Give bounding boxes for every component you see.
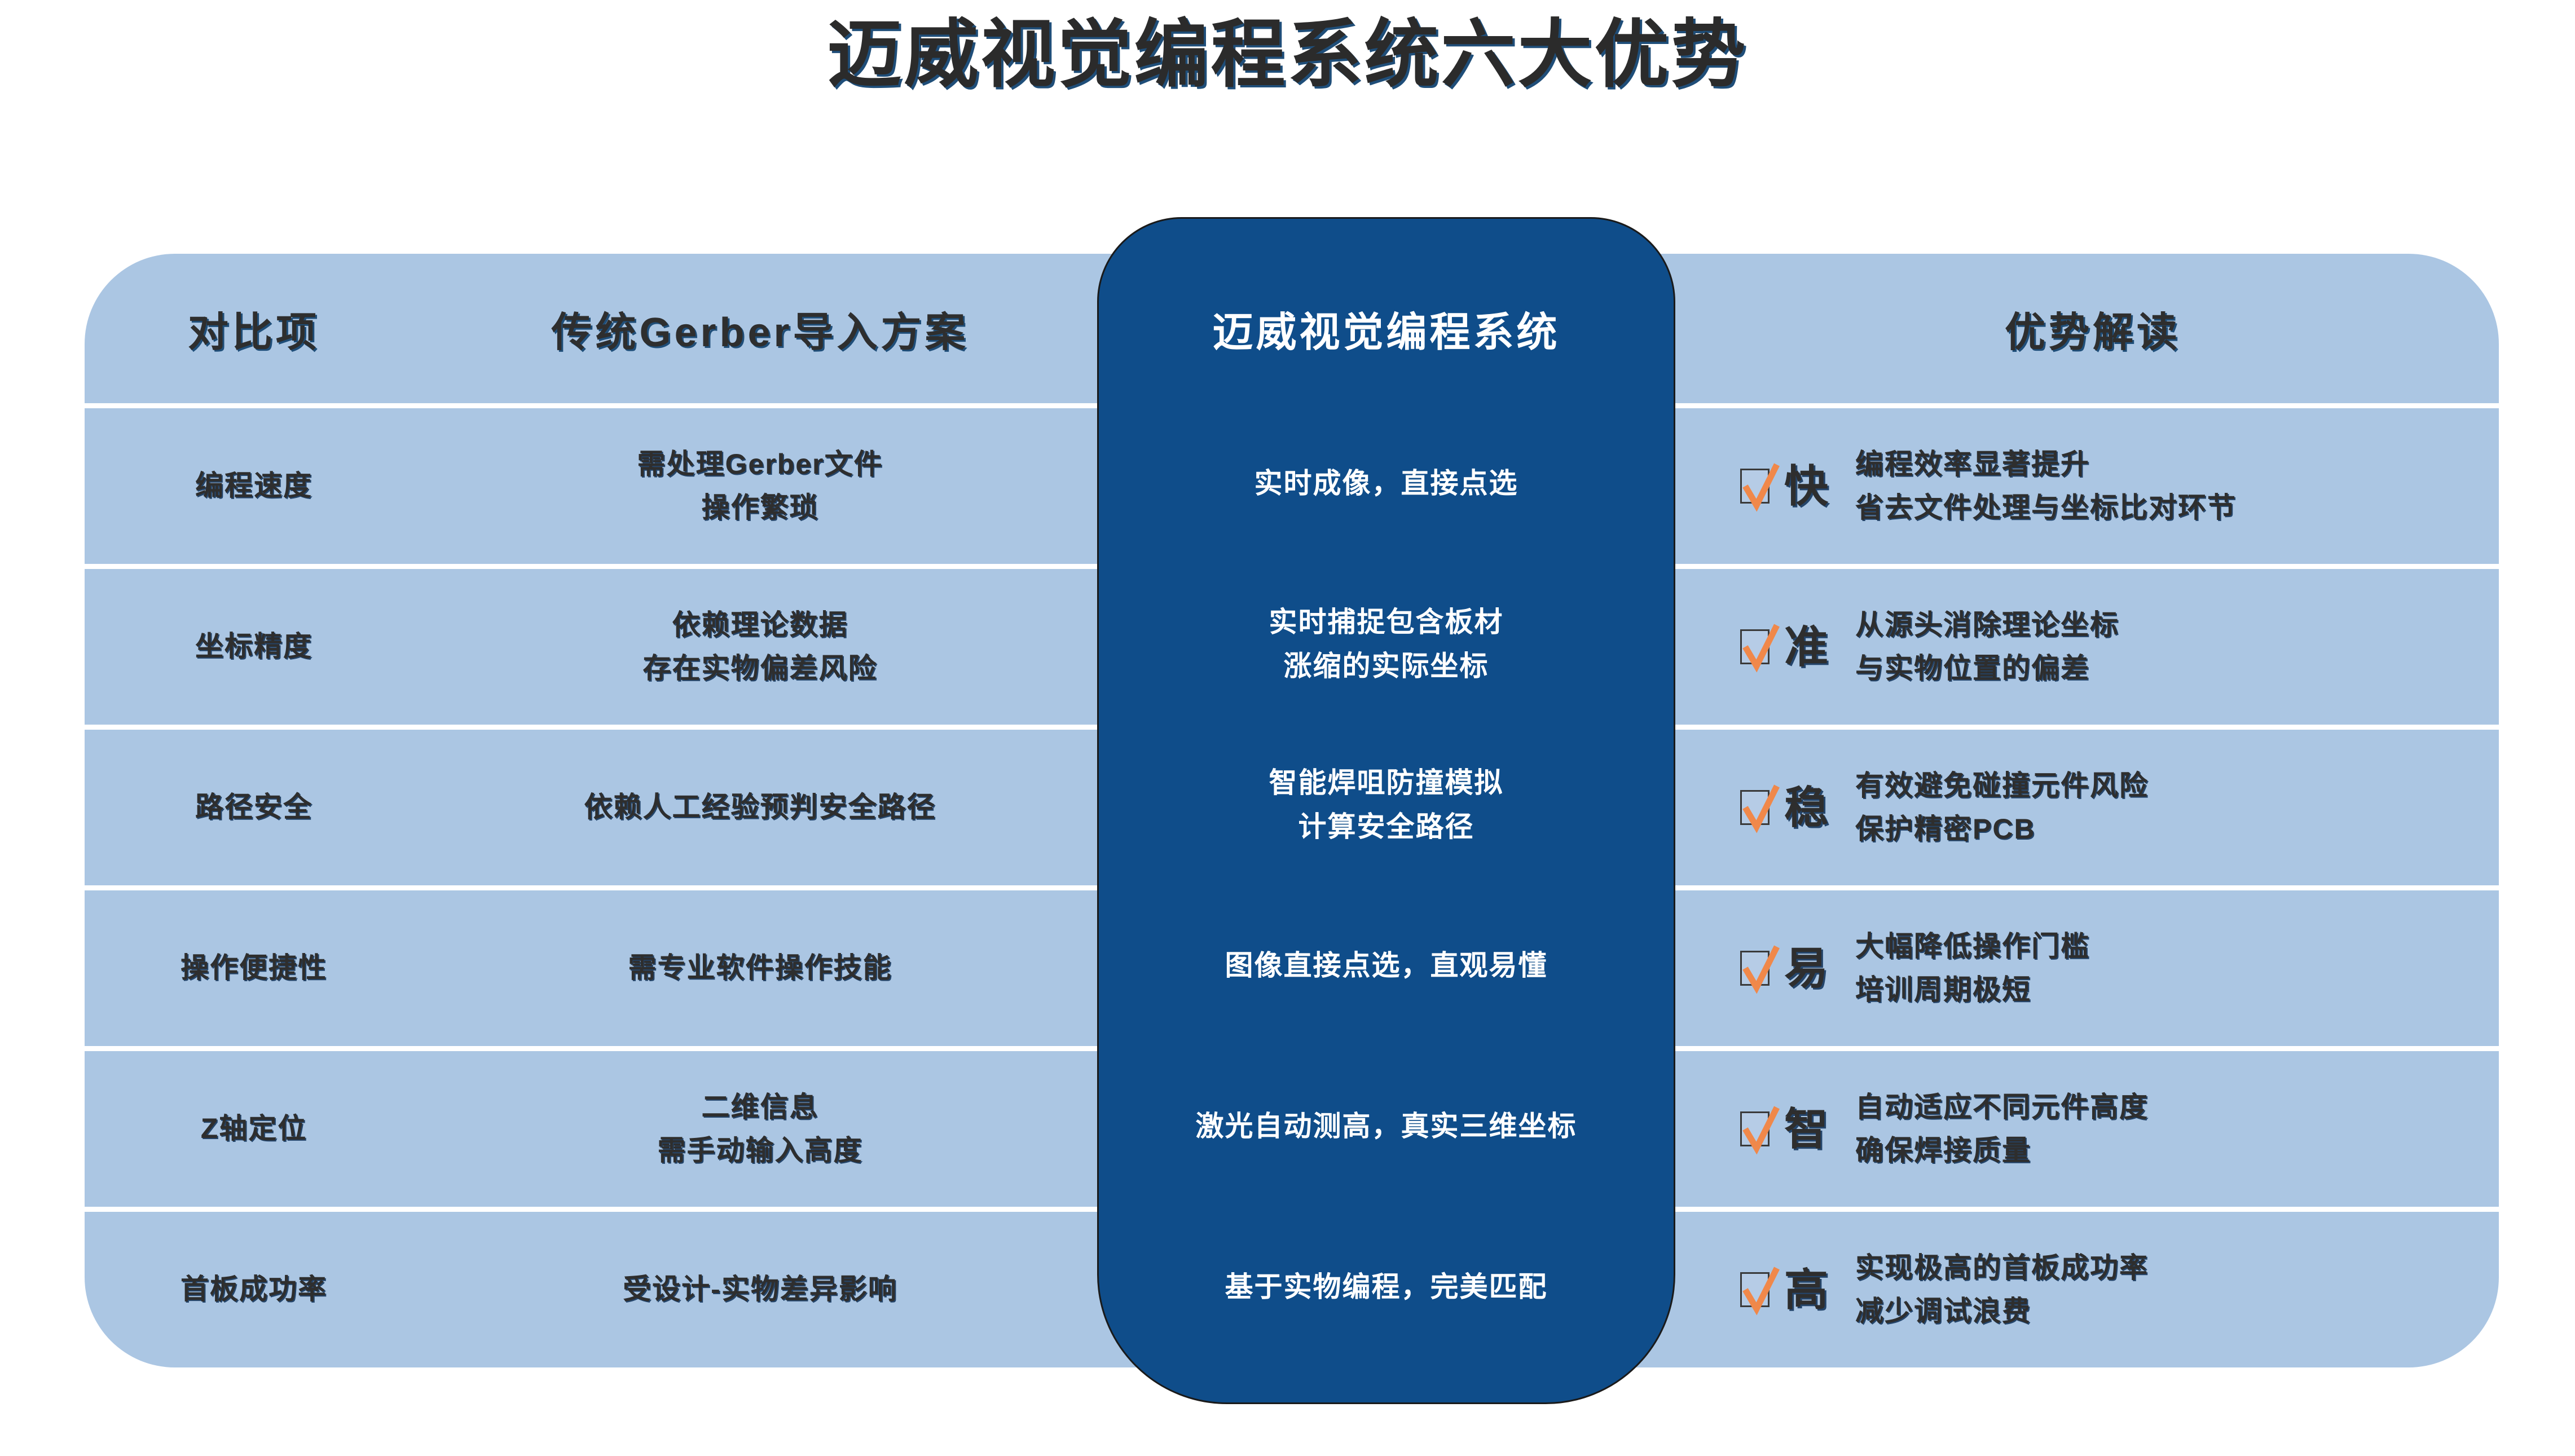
row-advantage: 易 大幅降低操作门槛 培训周期极短: [1675, 925, 2499, 1012]
advantage-line: 从源头消除理论坐标: [1855, 603, 2119, 647]
row-advantage: 智 自动适应不同元件高度 确保焊接质量: [1675, 1086, 2499, 1173]
header-label-maiwei: 迈威视觉编程系统: [1212, 299, 1560, 358]
advantage-line: 实现极高的首板成功率: [1855, 1246, 2149, 1290]
advantage-line: 有效避免碰撞元件风险: [1855, 764, 2149, 808]
advantage-line: 保护精密PCB: [1855, 808, 2149, 851]
maiwei-line: 智能焊咀防撞模拟: [1269, 761, 1504, 805]
checkbox-checked-icon: [1740, 951, 1770, 986]
row-item-label: 操作便捷性: [181, 952, 327, 983]
traditional-line: 依赖人工经验预判安全路径: [423, 786, 1097, 830]
advantage-badge: 智: [1784, 1107, 1828, 1151]
advantage-line: 大幅降低操作门槛: [1855, 925, 2090, 969]
header-label-traditional: 传统Gerber导入方案: [551, 310, 969, 355]
highlight-cell: 实时捕捉包含板材 涨缩的实际坐标: [1097, 564, 1675, 725]
row-item-label: 首板成功率: [181, 1273, 327, 1305]
traditional-line: 受设计-实物差异影响: [423, 1268, 1097, 1312]
highlight-cell: 激光自动测高，真实三维坐标: [1097, 1046, 1675, 1207]
row-item: 操作便捷性: [85, 946, 423, 990]
advantage-badge: 稳: [1784, 786, 1828, 830]
traditional-line: 存在实物偏差风险: [423, 647, 1097, 691]
checkbox-checked-icon: [1740, 790, 1770, 825]
row-item: 坐标精度: [85, 625, 423, 669]
row-advantage: 准 从源头消除理论坐标 与实物位置的偏差: [1675, 603, 2499, 691]
row-traditional: 依赖人工经验预判安全路径: [423, 786, 1097, 830]
advantage-line: 编程效率显著提升: [1855, 443, 2237, 487]
maiwei-line: 基于实物编程，完美匹配: [1225, 1265, 1548, 1309]
advantage-line: 确保焊接质量: [1855, 1129, 2149, 1173]
row-advantage: 高 实现极高的首板成功率 减少调试浪费: [1675, 1246, 2499, 1334]
row-item-label: 路径安全: [195, 791, 312, 823]
row-item: 编程速度: [85, 464, 423, 508]
maiwei-line: 图像直接点选，直观易懂: [1225, 944, 1548, 988]
header-label-advantage: 优势解读: [1675, 299, 2499, 358]
checkbox-checked-icon: [1740, 1111, 1770, 1146]
header-label-compare-item: 对比项: [188, 310, 320, 355]
checkbox-checked-icon: [1740, 629, 1770, 664]
highlight-cell: 图像直接点选，直观易懂: [1097, 885, 1675, 1046]
maiwei-line: 计算安全路径: [1269, 805, 1504, 849]
advantage-badge: 易: [1784, 946, 1828, 990]
highlight-header: 迈威视觉编程系统: [1097, 254, 1675, 403]
row-item: 首板成功率: [85, 1268, 423, 1312]
page-title: 迈威视觉编程系统六大优势: [0, 5, 2575, 105]
row-item: Z轴定位: [85, 1107, 423, 1151]
traditional-line: 操作繁琐: [423, 486, 1097, 530]
maiwei-line: 实时捕捉包含板材: [1269, 601, 1504, 645]
row-item-label: 编程速度: [195, 470, 312, 501]
traditional-line: 需处理Gerber文件: [423, 443, 1097, 487]
checkbox-checked-icon: [1740, 1272, 1770, 1307]
advantage-line: 省去文件处理与坐标比对环节: [1855, 486, 2237, 530]
highlight-cell: 实时成像，直接点选: [1097, 403, 1675, 564]
row-traditional: 依赖理论数据 存在实物偏差风险: [423, 603, 1097, 691]
traditional-line: 依赖理论数据: [423, 603, 1097, 647]
row-item-label: Z轴定位: [201, 1113, 307, 1144]
traditional-line: 需专业软件操作技能: [423, 946, 1097, 990]
row-item: 路径安全: [85, 786, 423, 830]
advantage-line: 减少调试浪费: [1855, 1290, 2149, 1334]
traditional-line: 二维信息: [423, 1086, 1097, 1129]
row-advantage: 快 编程效率显著提升 省去文件处理与坐标比对环节: [1675, 443, 2499, 530]
highlight-cell: 基于实物编程，完美匹配: [1097, 1207, 1675, 1367]
row-item-label: 坐标精度: [195, 630, 312, 662]
header-cell-advantage: 优势解读: [1675, 299, 2499, 358]
maiwei-line: 激光自动测高，真实三维坐标: [1196, 1105, 1577, 1149]
advantage-badge: 准: [1784, 625, 1828, 669]
advantage-badge: 高: [1784, 1268, 1828, 1312]
advantage-line: 与实物位置的偏差: [1855, 647, 2119, 691]
row-traditional: 需处理Gerber文件 操作繁琐: [423, 443, 1097, 530]
highlight-cell: 智能焊咀防撞模拟 计算安全路径: [1097, 725, 1675, 885]
maiwei-line: 涨缩的实际坐标: [1269, 645, 1504, 689]
advantage-badge: 快: [1784, 464, 1828, 508]
checkbox-checked-icon: [1740, 469, 1770, 504]
header-cell-compare-item: 对比项: [85, 299, 423, 358]
traditional-line: 需手动输入高度: [423, 1129, 1097, 1173]
row-advantage: 稳 有效避免碰撞元件风险 保护精密PCB: [1675, 764, 2499, 851]
advantage-line: 培训周期极短: [1855, 968, 2090, 1012]
row-traditional: 二维信息 需手动输入高度: [423, 1086, 1097, 1173]
advantage-line: 自动适应不同元件高度: [1855, 1086, 2149, 1129]
row-traditional: 受设计-实物差异影响: [423, 1268, 1097, 1312]
maiwei-line: 实时成像，直接点选: [1255, 462, 1518, 506]
row-traditional: 需专业软件操作技能: [423, 946, 1097, 990]
highlight-column: 迈威视觉编程系统 实时成像，直接点选 实时捕捉包含板材 涨缩的实际坐标 智能焊咀…: [1097, 217, 1675, 1404]
header-cell-traditional: 传统Gerber导入方案: [423, 299, 1097, 358]
